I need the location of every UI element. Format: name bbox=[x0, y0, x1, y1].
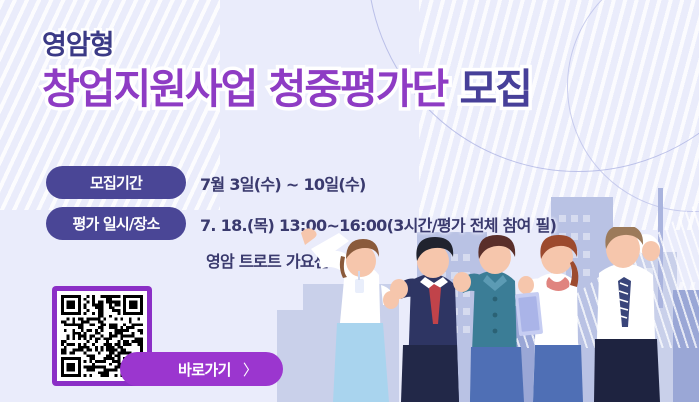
label-pill-schedule: 평가 일시/장소 bbox=[46, 207, 186, 240]
person-teal-shirt bbox=[453, 235, 524, 402]
info-row-period: 모집기간 7월 3일(수) ~ 10일(수) bbox=[46, 166, 556, 199]
person-scarf-folder bbox=[515, 235, 583, 402]
title-navy-part: 모집 bbox=[459, 65, 530, 113]
person-white-shirt bbox=[594, 227, 660, 402]
business-people-illustration bbox=[299, 227, 699, 402]
go-link-label: 바로가기 bbox=[178, 359, 231, 380]
person-pointing bbox=[301, 228, 399, 402]
label-pill-period: 모집기간 bbox=[46, 166, 186, 199]
headline-block: 영암형 창업지원사업 청중평가단 모집 bbox=[42, 32, 531, 112]
chevron-right-icon: 〉 bbox=[243, 359, 257, 380]
person-navy-suit bbox=[390, 237, 459, 402]
promo-banner: 영암형 창업지원사업 청중평가단 모집 모집기간 7월 3일(수) ~ 10일(… bbox=[0, 0, 699, 402]
title-purple-part: 창업지원사업 청중평가단 bbox=[42, 65, 447, 113]
go-link-button[interactable]: 바로가기 〉 bbox=[120, 352, 283, 386]
page-title: 창업지원사업 청중평가단 모집 bbox=[42, 67, 531, 111]
value-period: 7월 3일(수) ~ 10일(수) bbox=[200, 171, 366, 195]
kicker-text: 영암형 bbox=[42, 32, 114, 60]
